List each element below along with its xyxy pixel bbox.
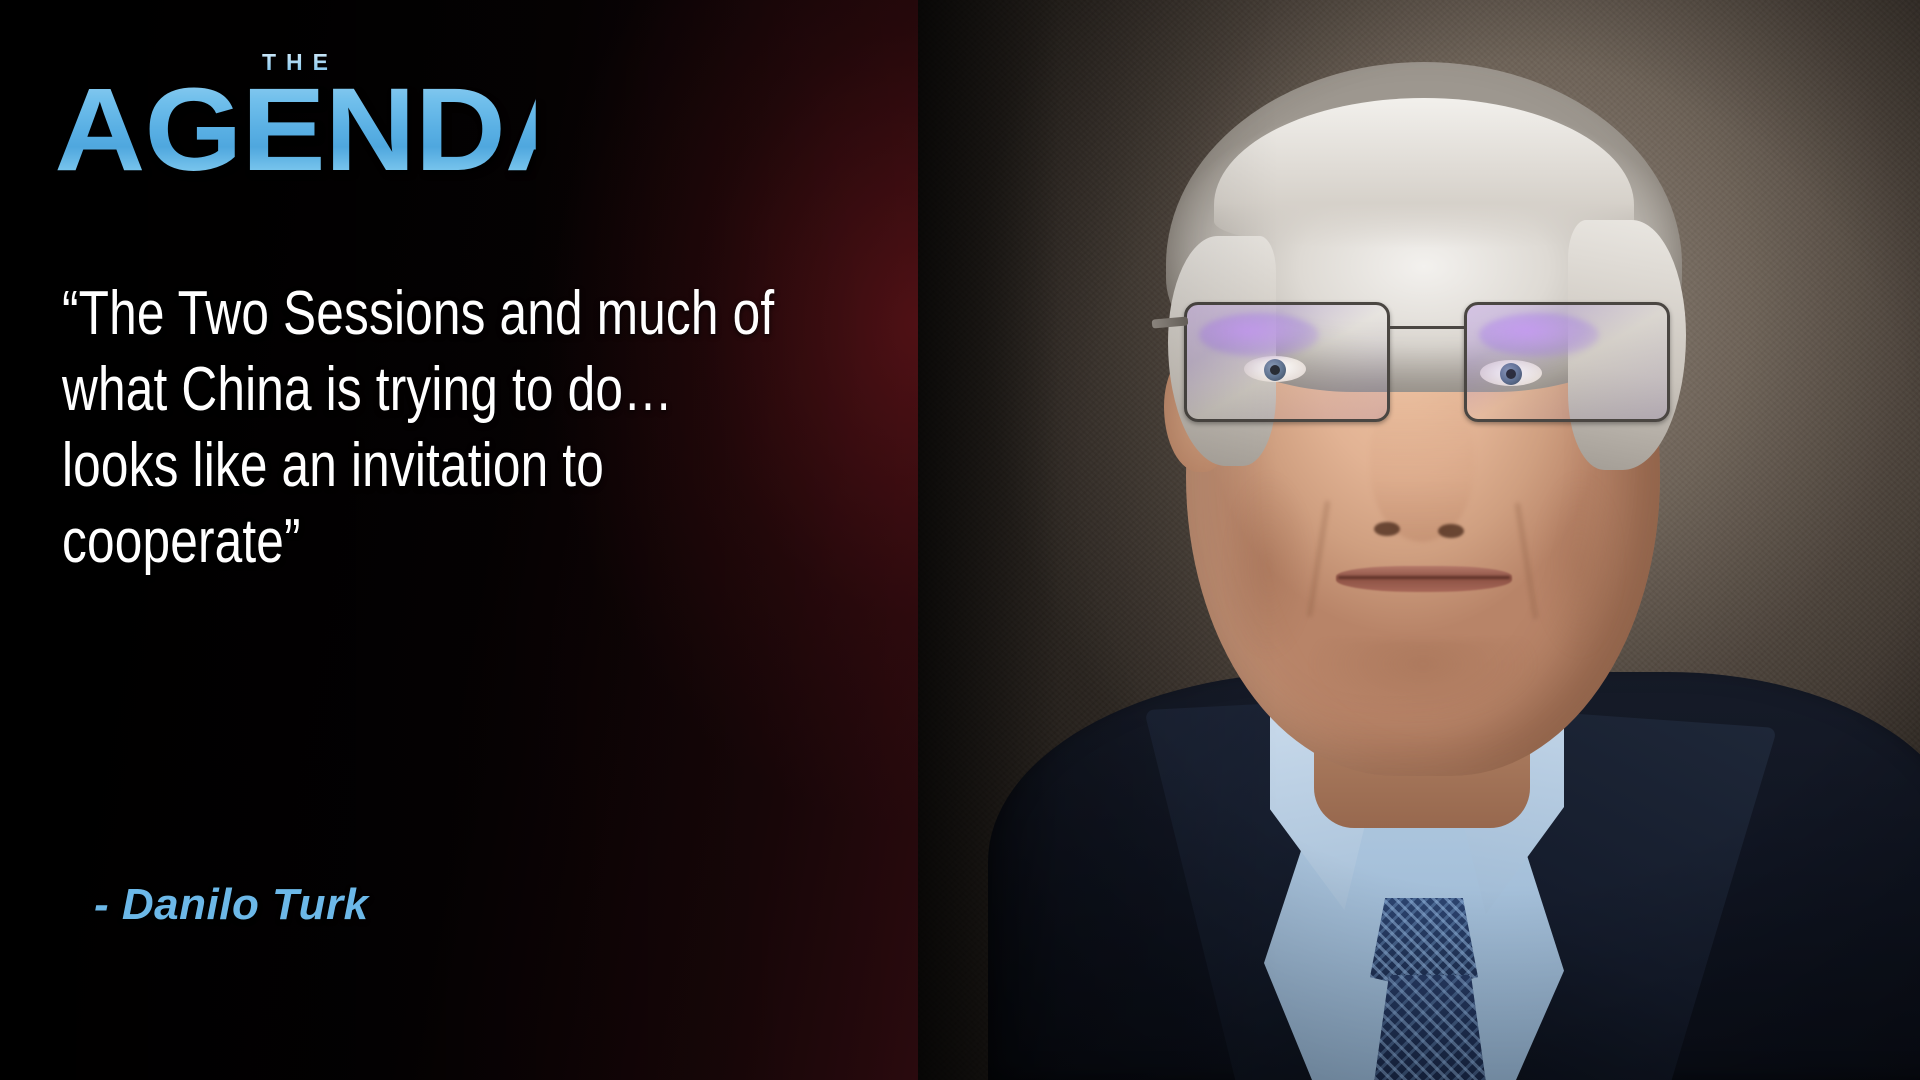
glasses-bridge: [1388, 326, 1466, 329]
cheek-shadow-left: [1224, 470, 1314, 660]
eyeglasses: [1170, 292, 1682, 460]
mouth: [1336, 566, 1512, 592]
interview-subject: [918, 0, 1920, 1080]
glasses-temple-left: [1152, 316, 1189, 328]
logo-title-text: AGENDA: [54, 78, 536, 182]
lens-glare-right: [1479, 313, 1599, 357]
lens-glare-left: [1199, 313, 1319, 357]
cheek-shadow-right: [1534, 470, 1624, 660]
mouth-line: [1338, 576, 1510, 579]
broadcast-frame: THE AGENDA “The Two Sessions and much of…: [0, 0, 1920, 1080]
lens-right: [1464, 302, 1670, 422]
lens-left: [1184, 302, 1390, 422]
quote-text: “The Two Sessions and much of what China…: [62, 276, 782, 580]
program-logo: THE AGENDA: [70, 48, 520, 188]
graphics-panel: THE AGENDA “The Two Sessions and much of…: [0, 0, 918, 1080]
nostril-left: [1374, 522, 1400, 536]
video-feed: [918, 0, 1920, 1080]
nostril-right: [1438, 524, 1464, 538]
quote-attribution: - Danilo Turk: [94, 880, 369, 930]
chin-shadow: [1310, 640, 1536, 720]
